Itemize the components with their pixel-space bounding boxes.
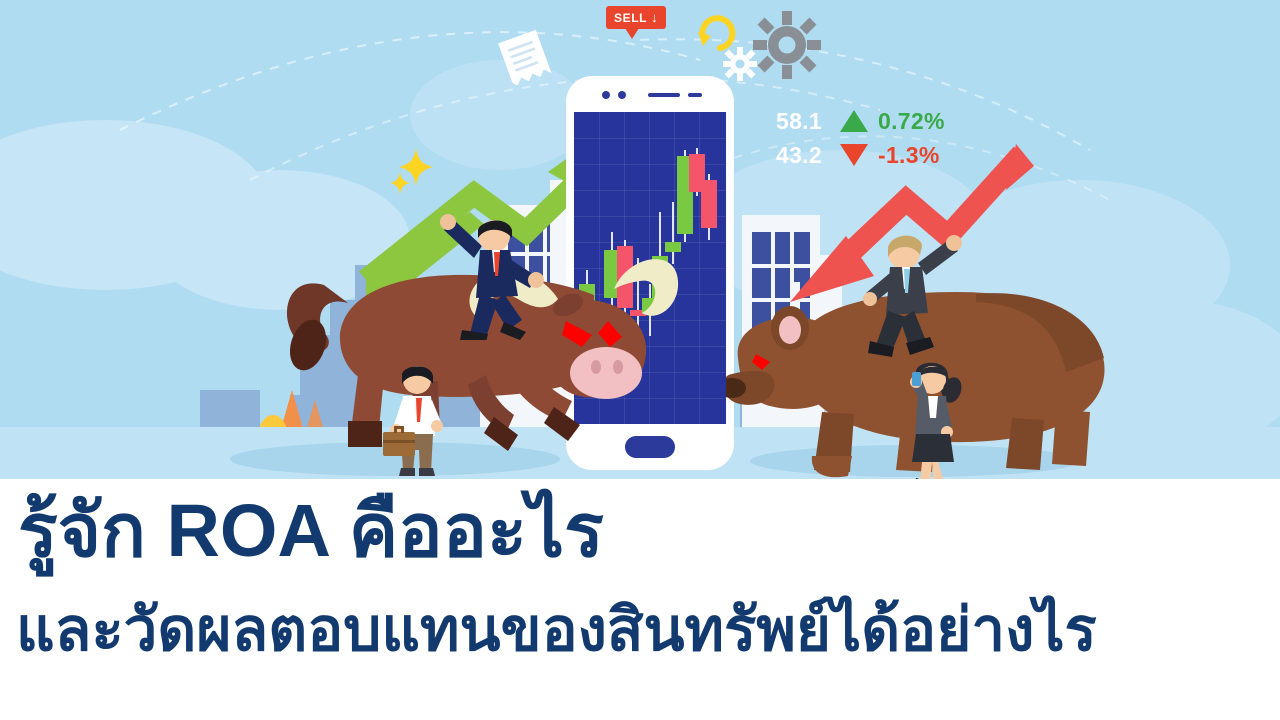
triangle-down-icon: [840, 144, 868, 166]
ticker-row-down: 43.2 -1.3%: [776, 138, 945, 172]
camera-dot-icon: [602, 91, 610, 99]
chart-gridline: [574, 138, 726, 139]
sell-badge[interactable]: SELL ↓: [606, 6, 666, 29]
sell-arrow-down-icon: ↓: [651, 10, 658, 25]
sell-badge-tail: [625, 28, 639, 39]
title-banner: รู้จัก ROA คืออะไร และวัดผลตอบแทนของสินท…: [0, 479, 1280, 720]
speaker-grill: [648, 93, 680, 97]
page-subtitle: และวัดผลตอบแทนของสินทรัพย์ได้อย่างไร: [16, 591, 1097, 669]
gear-icon-large: [752, 10, 822, 80]
speaker-grill: [688, 93, 702, 97]
triangle-up-icon: [840, 110, 868, 132]
ticker-value: 58.1: [776, 104, 832, 138]
sell-badge-label: SELL: [614, 11, 647, 25]
candle-body-down: [701, 180, 717, 228]
page-title: รู้จัก ROA คืออะไร: [18, 485, 604, 577]
stock-ticker: 58.1 0.72% 43.2 -1.3%: [776, 104, 945, 172]
ticker-value: 43.2: [776, 138, 832, 172]
hero-illustration: SELL ↓: [0, 0, 1280, 479]
businessman-with-briefcase: [375, 360, 465, 479]
businesswoman-on-phone: [890, 358, 980, 479]
document-icon: [494, 26, 564, 96]
ticker-change: -1.3%: [878, 138, 940, 172]
businessman-on-bull: [430, 200, 560, 340]
ticker-change: 0.72%: [878, 104, 945, 138]
businessman-on-bear: [860, 215, 990, 365]
camera-dot-icon: [618, 91, 626, 99]
ticker-row-up: 58.1 0.72%: [776, 104, 945, 138]
page-root: SELL ↓: [0, 0, 1280, 720]
